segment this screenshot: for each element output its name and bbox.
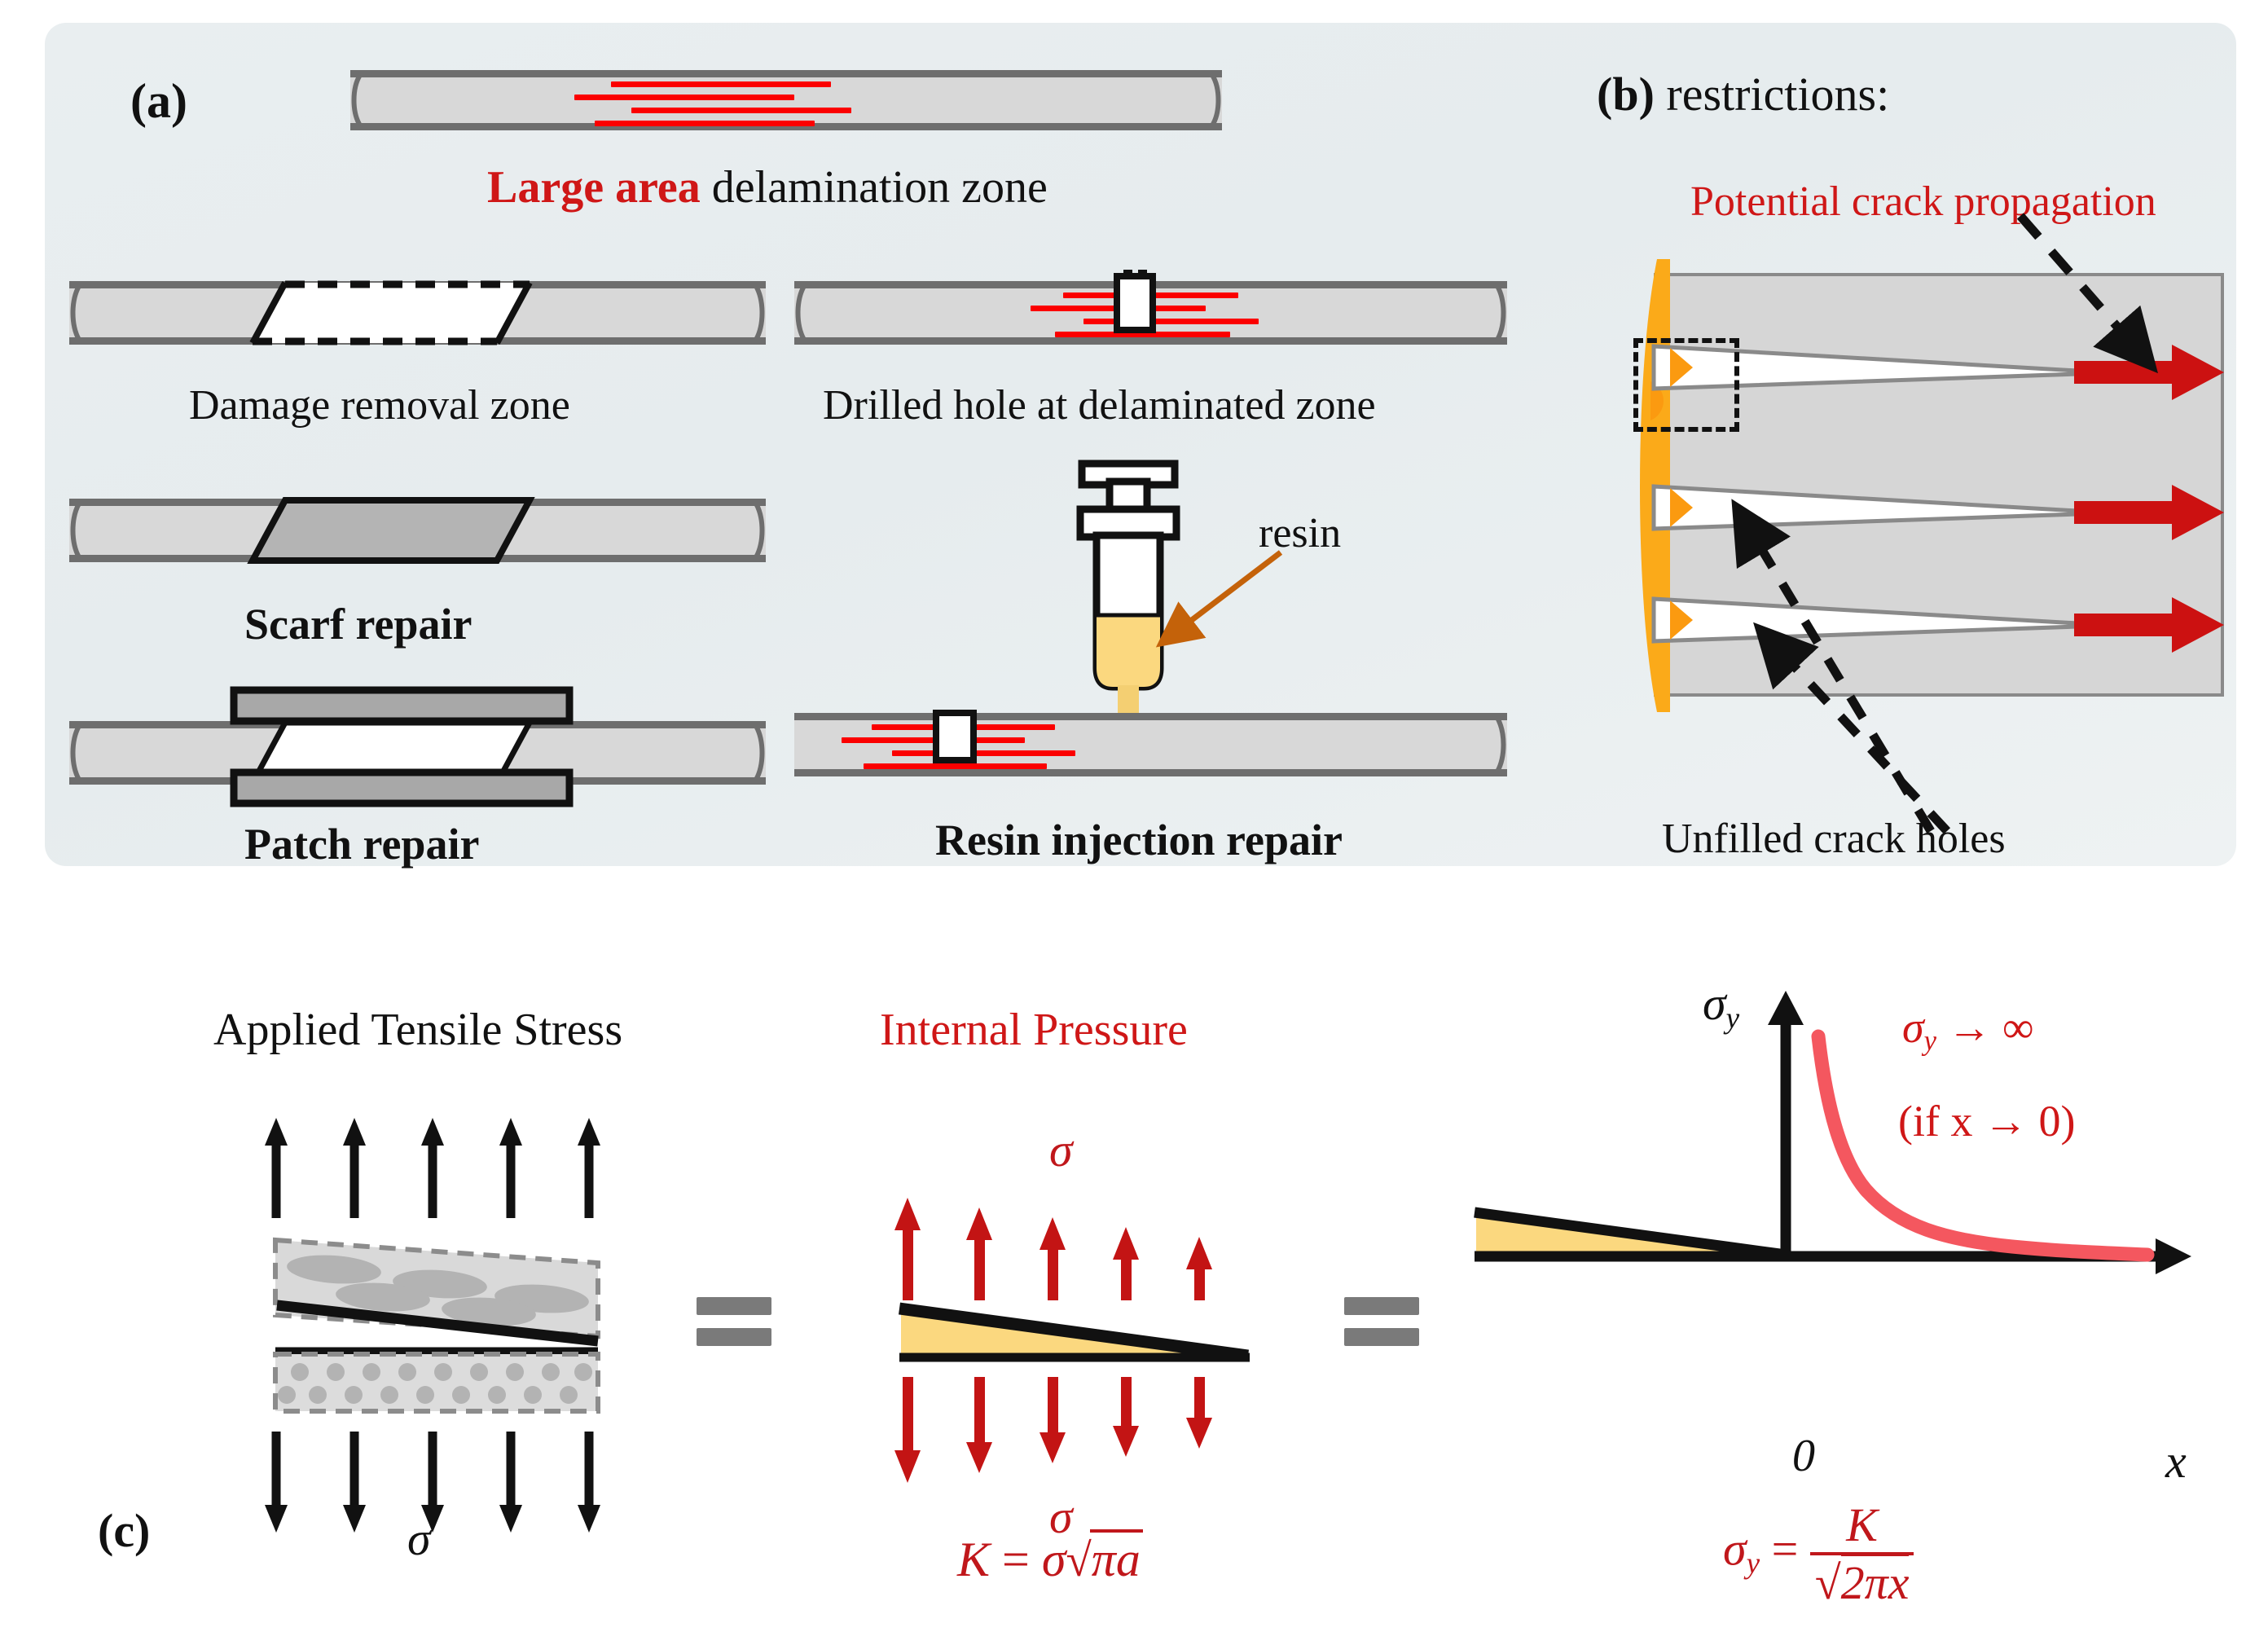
injection-hole-icon (931, 710, 980, 765)
crack-mouth-focus-box (1633, 338, 1739, 432)
unfilled-crack-holes-label: Unfilled crack holes (1662, 815, 2006, 863)
internal-pressure-down-arrows-icon (896, 1377, 1246, 1487)
delamination-caption-rest: delamination zone (701, 162, 1048, 213)
eq-numerator: K (1810, 1498, 1914, 1552)
delamination-caption-strong: Large area (487, 162, 701, 213)
scarf-patch-shape (253, 499, 562, 562)
stress-intensity-equation: K = σ√πa (957, 1532, 1143, 1588)
plot-note-line-2: (if x → 0) (1898, 1096, 2075, 1146)
break-symbol-left-icon (68, 281, 82, 345)
applied-tensile-stress-title: Applied Tensile Stress (213, 1004, 622, 1056)
scarf-repair-label: Scarf repair (244, 599, 472, 649)
drilled-hole-icon (1112, 271, 1159, 338)
panel-c-tag: (c) (98, 1503, 150, 1558)
sigma-y-equation: σy = K √2πx (1723, 1498, 1914, 1610)
equals-bar (1344, 1328, 1419, 1346)
sqrt-glyph-icon: √ (1815, 1556, 1841, 1609)
eq-denominator: 2πx (1841, 1553, 1910, 1609)
crack-line (595, 121, 815, 126)
break-symbol-left-icon (793, 281, 807, 345)
equals-separator-2 (1344, 1297, 1419, 1346)
patch-plate-bottom (231, 769, 573, 807)
sqrt-glyph-icon: √ (1066, 1535, 1091, 1586)
resin-injection-bar (794, 713, 1507, 776)
damage-removal-cutout (253, 281, 562, 345)
eq-denominator-wrap: √2πx (1810, 1552, 1914, 1610)
break-symbol-right-icon (1209, 70, 1224, 130)
break-symbol-left-icon (349, 70, 363, 130)
applied-sigma-label: σ (407, 1511, 431, 1566)
crack-line (574, 95, 794, 100)
delamination-bar (350, 70, 1222, 130)
patch-repair-label: Patch repair (244, 819, 479, 869)
tensile-up-arrows-icon (265, 1116, 607, 1222)
damage-removal-label: Damage removal zone (189, 381, 570, 429)
note-sigma: σ (1902, 1003, 1924, 1052)
composite-laminate-icon (269, 1230, 611, 1418)
equation-radicand: πa (1090, 1529, 1143, 1586)
resin-injection-label: Resin injection repair (935, 815, 1343, 865)
scarf-repair-bar (69, 499, 766, 562)
resin-arrow-icon (1141, 546, 1287, 652)
drilled-hole-bar (794, 281, 1507, 345)
note-arrow-infinity: → ∞ (1936, 1003, 2034, 1052)
equation-equals: = (990, 1533, 1042, 1586)
panel-b-heading: restrictions: (1666, 68, 1889, 121)
break-symbol-right-icon (1494, 713, 1509, 776)
equals-bar (697, 1328, 771, 1346)
break-symbol-left-icon (68, 721, 82, 785)
crack-propagation-pointer-icon (2012, 208, 2208, 395)
crack-line (631, 108, 851, 113)
internal-crack-wedge-icon (888, 1294, 1279, 1383)
crack-line (611, 81, 831, 87)
eq-sigma: σ (1723, 1522, 1747, 1575)
equation-K: K (957, 1533, 990, 1586)
crack-line (1083, 319, 1259, 324)
delamination-caption: Large area delamination zone (487, 161, 1048, 213)
tensile-down-arrows-icon (265, 1430, 607, 1536)
plot-x-axis-label: x (2165, 1434, 2187, 1489)
note-sigma-subscript: y (1924, 1026, 1936, 1057)
plot-origin-label: 0 (1792, 1430, 1815, 1482)
break-symbol-right-icon (753, 281, 767, 345)
break-symbol-left-icon (68, 499, 82, 562)
crack-line (892, 750, 1075, 756)
break-symbol-right-icon (753, 499, 767, 562)
drilled-hole-label: Drilled hole at delaminated zone (823, 381, 1376, 429)
plot-note-line-1: σy → ∞ (1902, 1002, 2033, 1058)
unfilled-holes-pointer-icon (1678, 489, 2020, 847)
eq-equals: = (1760, 1522, 1810, 1575)
equals-bar (1344, 1297, 1419, 1315)
panel-b-tag-row: (b) restrictions: (1597, 67, 1889, 121)
figure-root: (a) Large area delamination zone (0, 0, 2268, 1645)
internal-pressure-title: Internal Pressure (880, 1004, 1188, 1056)
patch-plate-top (231, 687, 573, 724)
equation-sigma: σ (1042, 1533, 1066, 1586)
eq-sigma-subscript: y (1747, 1547, 1760, 1581)
stress-field-plot (1458, 986, 2208, 1515)
panel-b-tag: (b) (1597, 68, 1655, 121)
internal-pressure-up-arrows-icon (896, 1198, 1246, 1304)
internal-sigma-top-label: σ (1049, 1123, 1073, 1177)
break-symbol-right-icon (753, 721, 767, 785)
equals-separator-1 (697, 1297, 771, 1346)
break-symbol-right-icon (1494, 281, 1509, 345)
equals-bar (697, 1297, 771, 1315)
damage-removal-bar (69, 281, 766, 345)
panel-a-tag: (a) (130, 73, 187, 130)
